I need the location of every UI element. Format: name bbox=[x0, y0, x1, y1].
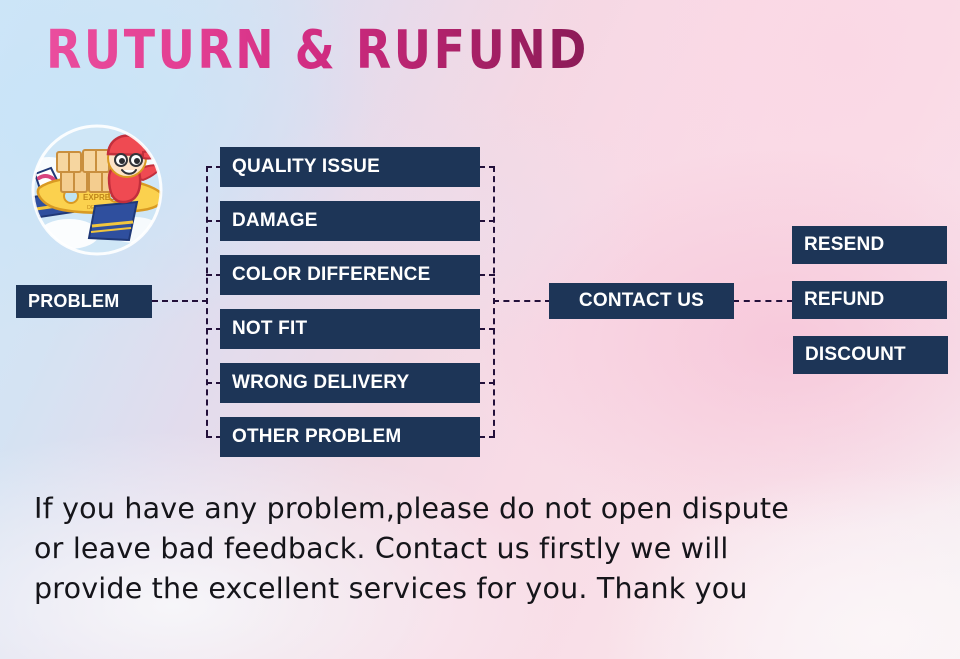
policy-note: If you have any problem,please do not op… bbox=[34, 489, 934, 609]
flow-node-contact-us-label: CONTACT US bbox=[579, 290, 704, 312]
connector-problem-1-to-right-spine bbox=[479, 166, 495, 168]
flow-node-discount[interactable]: DISCOUNT bbox=[793, 336, 948, 374]
policy-note-line-3: provide the excellent services for you. … bbox=[34, 569, 934, 609]
page-title: RUTURN & RUFUND bbox=[46, 23, 589, 76]
flow-node-other-problem-label: OTHER PROBLEM bbox=[232, 426, 401, 448]
flow-node-problem[interactable]: PROBLEM bbox=[16, 285, 152, 318]
connector-problem-5-to-right-spine bbox=[479, 382, 495, 384]
connector-problem-to-spine bbox=[152, 300, 208, 302]
flow-node-discount-label: DISCOUNT bbox=[805, 344, 906, 366]
flow-node-quality-issue[interactable]: QUALITY ISSUE bbox=[220, 147, 480, 187]
flow-node-damage[interactable]: DAMAGE bbox=[220, 201, 480, 241]
returns-refund-infographic: RUTURN & RUFUND bbox=[0, 0, 960, 659]
connector-problem-3-to-right-spine bbox=[479, 274, 495, 276]
delivery-plane-icon: EXPRESS DELIVERY bbox=[17, 122, 177, 258]
flow-node-contact-us[interactable]: CONTACT US bbox=[549, 283, 734, 319]
flow-node-wrong-delivery[interactable]: WRONG DELIVERY bbox=[220, 363, 480, 403]
flow-node-color-difference-label: COLOR DIFFERENCE bbox=[232, 264, 430, 286]
flow-node-not-fit[interactable]: NOT FIT bbox=[220, 309, 480, 349]
flow-node-damage-label: DAMAGE bbox=[232, 210, 318, 232]
flow-node-resend[interactable]: RESEND bbox=[792, 226, 947, 264]
flow-node-resend-label: RESEND bbox=[804, 234, 884, 256]
policy-note-line-1: If you have any problem,please do not op… bbox=[34, 489, 934, 529]
connector-problem-4-to-right-spine bbox=[479, 328, 495, 330]
policy-note-line-2: or leave bad feedback. Contact us firstl… bbox=[34, 529, 934, 569]
connector-contact-us-to-resolutions bbox=[733, 300, 793, 302]
flow-node-color-difference[interactable]: COLOR DIFFERENCE bbox=[220, 255, 480, 295]
connector-problem-2-to-right-spine bbox=[479, 220, 495, 222]
flow-node-wrong-delivery-label: WRONG DELIVERY bbox=[232, 372, 409, 394]
connector-problem-6-to-right-spine bbox=[479, 436, 495, 438]
flow-node-not-fit-label: NOT FIT bbox=[232, 318, 307, 340]
flow-node-refund[interactable]: REFUND bbox=[792, 281, 947, 319]
flow-node-other-problem[interactable]: OTHER PROBLEM bbox=[220, 417, 480, 457]
flow-node-problem-label: PROBLEM bbox=[28, 291, 119, 312]
flow-node-quality-issue-label: QUALITY ISSUE bbox=[232, 156, 380, 178]
connector-left-spine bbox=[206, 166, 208, 436]
flow-node-refund-label: REFUND bbox=[804, 289, 884, 311]
connector-spine-to-contact-us bbox=[493, 300, 551, 302]
